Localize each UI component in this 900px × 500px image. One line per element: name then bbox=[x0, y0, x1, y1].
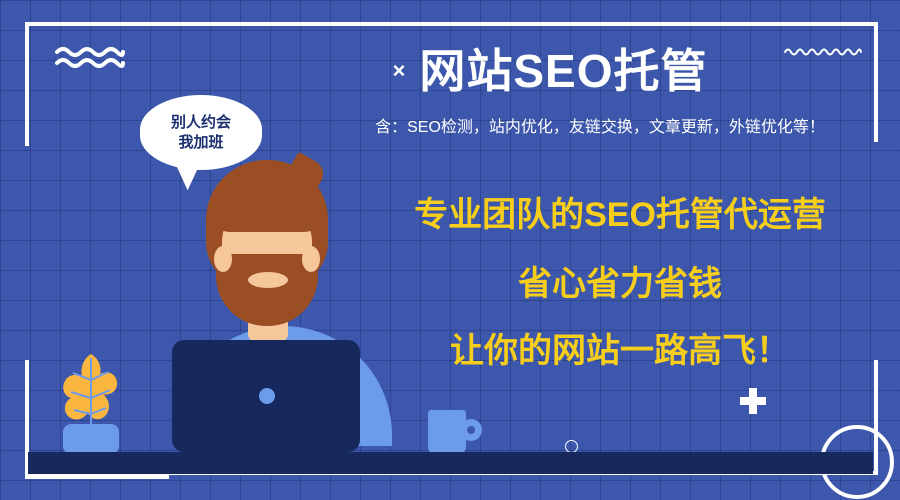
wave-lines-icon bbox=[55, 45, 125, 69]
speech-bubble-line-2: 我加班 bbox=[178, 133, 223, 152]
person-hair-front bbox=[210, 168, 324, 232]
person-ear-right bbox=[302, 246, 320, 272]
coffee-mug-icon bbox=[428, 410, 466, 454]
page-title: 网站SEO托管 bbox=[419, 48, 707, 94]
seo-promo-banner: × 网站SEO托管 含：SEO检测，站内优化，友链交换，文章更新，外链优化等！ … bbox=[0, 0, 900, 500]
title-row: × 网站SEO托管 bbox=[340, 42, 760, 100]
headline-line-3: 让你的网站一路高飞！ bbox=[380, 334, 860, 368]
x-mark-icon: × bbox=[392, 60, 405, 82]
desk-surface bbox=[28, 452, 873, 474]
headline-line-1: 专业团队的SEO托管代运营 bbox=[380, 198, 860, 232]
subtitle-text: 含：SEO检测，站内优化，友链交换，文章更新，外链优化等！ bbox=[310, 118, 890, 137]
wave-line-icon bbox=[783, 45, 863, 59]
potted-plant-leaf-icon bbox=[62, 352, 120, 432]
plus-icon bbox=[740, 388, 766, 414]
person-mouth bbox=[248, 272, 288, 288]
plant-pot bbox=[63, 424, 119, 454]
laptop-logo-dot bbox=[259, 388, 275, 404]
headline-line-2: 省心省力省钱 bbox=[380, 267, 860, 301]
person-ear-left bbox=[214, 246, 232, 272]
speech-bubble-line-1: 别人约会 bbox=[171, 113, 231, 132]
